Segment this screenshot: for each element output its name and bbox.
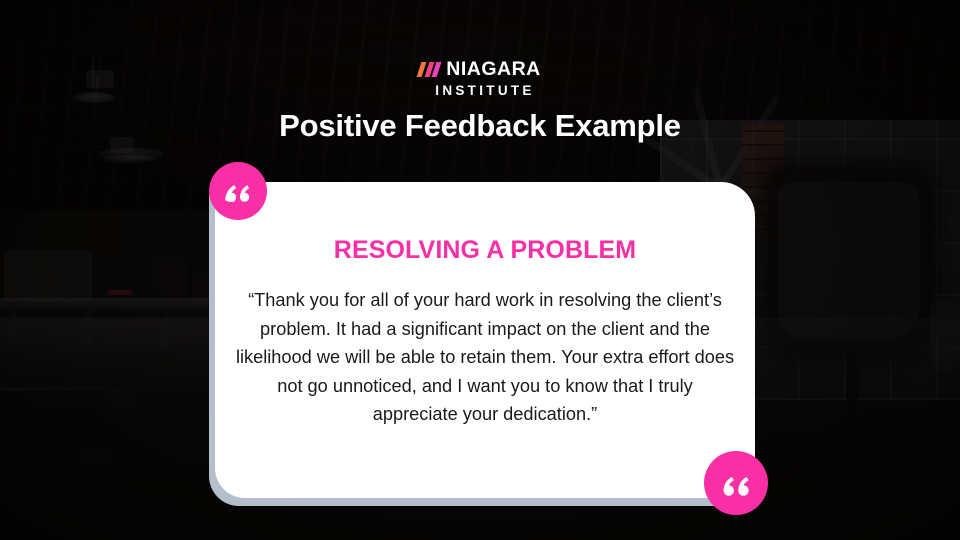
niagara-institute-logo: NIAGARA INSTITUTE (0, 60, 960, 97)
quote-card: RESOLVING A PROBLEM “Thank you for all o… (215, 182, 755, 498)
quote-card-surface: RESOLVING A PROBLEM “Thank you for all o… (215, 182, 755, 498)
quote-badge-bottom-right (704, 451, 768, 515)
quote-card-body: “Thank you for all of your hard work in … (233, 286, 737, 429)
quote-card-heading: RESOLVING A PROBLEM (215, 236, 755, 265)
logo-row: NIAGARA (419, 60, 541, 80)
logo-wordmark: NIAGARA (446, 60, 541, 80)
logo-subtext: INSTITUTE (425, 84, 534, 98)
open-quote-icon (719, 471, 753, 496)
open-quote-icon (223, 180, 253, 202)
page-title: Positive Feedback Example (0, 108, 960, 144)
slide-content: NIAGARA INSTITUTE Positive Feedback Exam… (0, 0, 960, 540)
logo-bars-icon (419, 62, 439, 77)
quote-badge-top-left (209, 162, 267, 220)
